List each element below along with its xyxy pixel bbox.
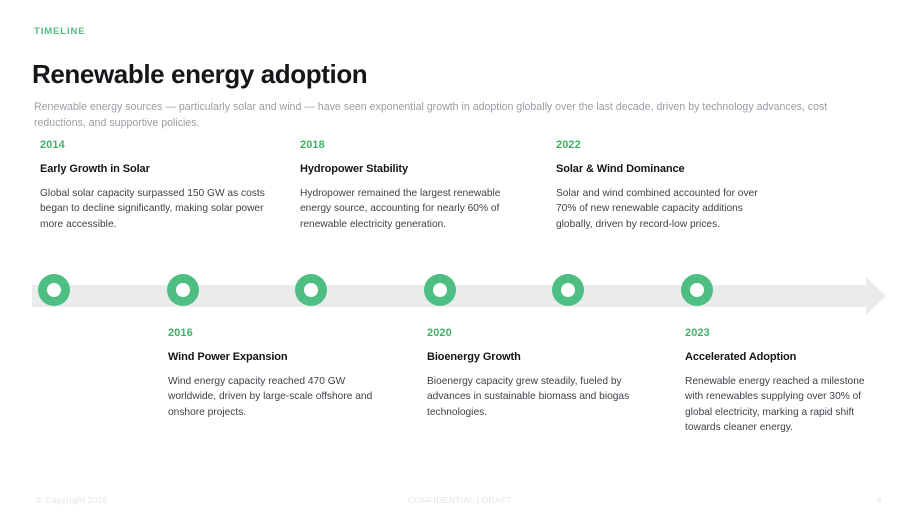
event-year: 2018 bbox=[300, 139, 515, 151]
event-description: Wind energy capacity reached 470 GW worl… bbox=[168, 374, 383, 420]
event-description: Global solar capacity surpassed 150 GW a… bbox=[40, 186, 275, 232]
timeline-event-2018[interactable]: 2018Hydropower StabilityHydropower remai… bbox=[300, 139, 515, 232]
event-year: 2014 bbox=[40, 139, 275, 151]
event-description: Hydropower remained the largest renewabl… bbox=[300, 186, 515, 232]
timeline-node-2018[interactable] bbox=[295, 274, 327, 306]
event-description: Bioenergy capacity grew steadily, fueled… bbox=[427, 374, 642, 420]
timeline-node-2020[interactable] bbox=[424, 274, 456, 306]
page-title: Renewable energy adoption bbox=[32, 59, 367, 90]
timeline-event-2016[interactable]: 2016Wind Power ExpansionWind energy capa… bbox=[168, 327, 383, 420]
axis-arrow-icon bbox=[866, 277, 886, 315]
footer-classification: CONFIDENTIAL | DRAFT bbox=[0, 495, 920, 505]
event-year: 2020 bbox=[427, 327, 642, 339]
event-description: Solar and wind combined accounted for ov… bbox=[556, 186, 771, 232]
event-title: Accelerated Adoption bbox=[685, 351, 885, 363]
timeline-event-2014[interactable]: 2014Early Growth in SolarGlobal solar ca… bbox=[40, 139, 275, 232]
timeline-event-2022[interactable]: 2022Solar & Wind DominanceSolar and wind… bbox=[556, 139, 771, 232]
slide: TIMELINE Renewable energy adoption Renew… bbox=[0, 0, 920, 518]
event-title: Bioenergy Growth bbox=[427, 351, 642, 363]
event-year: 2022 bbox=[556, 139, 771, 151]
timeline-event-2023[interactable]: 2023Accelerated AdoptionRenewable energy… bbox=[685, 327, 885, 435]
timeline-node-2014[interactable] bbox=[38, 274, 70, 306]
event-year: 2023 bbox=[685, 327, 885, 339]
event-title: Early Growth in Solar bbox=[40, 163, 275, 175]
eyebrow-label: TIMELINE bbox=[34, 26, 86, 37]
timeline-axis bbox=[0, 270, 920, 322]
event-description: Renewable energy reached a milestone wit… bbox=[685, 374, 885, 435]
event-title: Solar & Wind Dominance bbox=[556, 163, 771, 175]
timeline-node-2016[interactable] bbox=[167, 274, 199, 306]
footer-page-number: 6 bbox=[877, 495, 882, 505]
timeline-node-2023[interactable] bbox=[681, 274, 713, 306]
timeline-event-2020[interactable]: 2020Bioenergy GrowthBioenergy capacity g… bbox=[427, 327, 642, 420]
event-title: Hydropower Stability bbox=[300, 163, 515, 175]
page-subtitle: Renewable energy sources — particularly … bbox=[34, 99, 879, 132]
event-title: Wind Power Expansion bbox=[168, 351, 383, 363]
event-year: 2016 bbox=[168, 327, 383, 339]
